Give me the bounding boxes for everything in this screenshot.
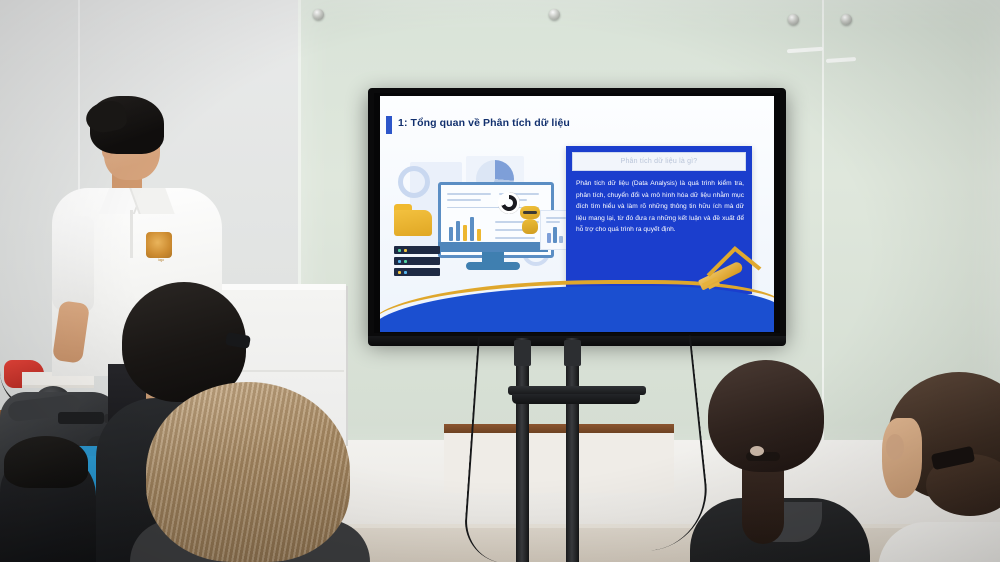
hair-accessory	[750, 446, 764, 456]
tv-stand-shelf-lip	[512, 394, 640, 404]
standoff-mount-icon	[788, 14, 799, 25]
rocket-arrow-icon	[698, 254, 758, 298]
slide-title: 1: Tổng quan về Phân tích dữ liệu	[398, 117, 698, 129]
donut-chart-hole	[505, 199, 513, 207]
standoff-mount-icon	[841, 14, 852, 25]
folder-icon	[394, 210, 432, 236]
audience-hair	[4, 436, 88, 488]
cabinet-top	[212, 284, 346, 290]
tv-stand-collar	[564, 340, 581, 366]
classroom-scene: logo 1: Tổng quan về Phân tích dữ liệu	[0, 0, 1000, 562]
shirt-logo-icon	[146, 232, 172, 258]
slide-title-accent-bar	[386, 116, 392, 134]
panel-body-text: Phân tích dữ liệu (Data Analysis) là quá…	[576, 178, 744, 236]
standoff-mount-icon	[549, 9, 560, 20]
shirt-logo-text: logo	[144, 258, 178, 262]
monitor-taskbar	[438, 242, 548, 252]
presentation-slide: 1: Tổng quan về Phân tích dữ liệu	[380, 96, 774, 332]
hair-texture	[146, 382, 350, 562]
panel-heading-text: Phân tích dữ liệu là gì?	[621, 158, 698, 165]
illus-circle	[398, 166, 430, 198]
tv-stand-post	[516, 338, 529, 562]
audience-body	[878, 522, 1000, 562]
data-analytics-illustration	[394, 154, 564, 276]
server-rack-icon	[394, 246, 440, 276]
audience-updo-woman	[878, 372, 1000, 562]
robot-mascot-icon	[518, 206, 542, 236]
tv-stand-post	[566, 338, 579, 562]
audience-face	[882, 418, 922, 498]
standoff-mount-icon	[313, 9, 324, 20]
presenter-placket	[130, 210, 133, 258]
panel-heading-box: Phân tích dữ liệu là gì?	[572, 152, 746, 171]
audience-ponytail-woman	[690, 360, 870, 562]
monitor-base	[466, 262, 520, 270]
audience-ear	[886, 434, 904, 460]
presenter-sleeve	[52, 216, 94, 312]
